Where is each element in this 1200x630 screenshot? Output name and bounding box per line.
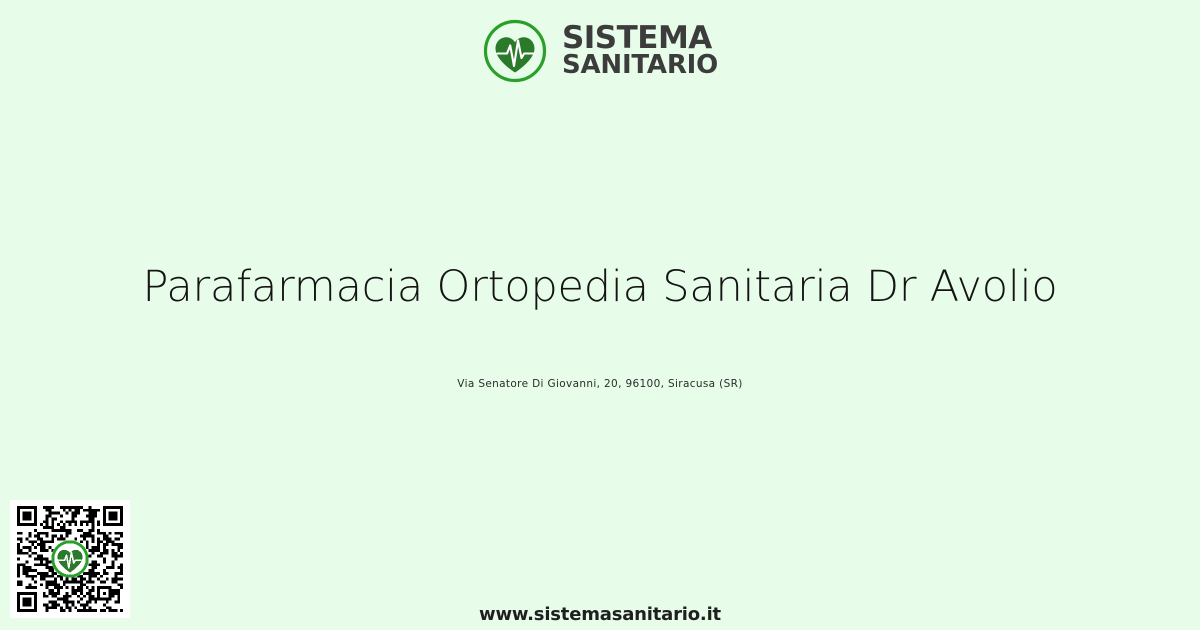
- brand-logo: SISTEMA SANITARIO: [0, 18, 1200, 84]
- footer-website[interactable]: www.sistemasanitario.it: [0, 604, 1200, 625]
- poster-canvas: SISTEMA SANITARIO Parafarmacia Ortopedia…: [0, 0, 1200, 630]
- brand-line-sistema: SISTEMA: [562, 24, 718, 53]
- heart-pulse-icon: [482, 18, 548, 84]
- qr-code[interactable]: [10, 500, 130, 618]
- qr-code-image: [16, 506, 124, 612]
- address-line: Via Senatore Di Giovanni, 20, 96100, Sir…: [0, 378, 1200, 390]
- brand-line-sanitario: SANITARIO: [562, 54, 718, 78]
- page-title: Parafarmacia Ortopedia Sanitaria Dr Avol…: [0, 262, 1200, 312]
- brand-wordmark: SISTEMA SANITARIO: [562, 24, 718, 78]
- qr-center-logo-icon: [51, 540, 89, 578]
